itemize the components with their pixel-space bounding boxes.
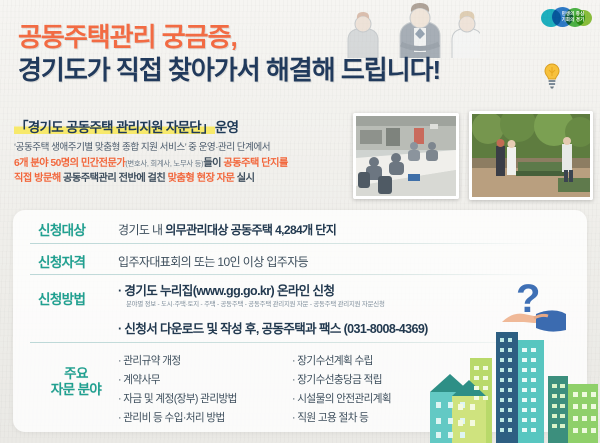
fields-right-column: · 장기수선계획 수립 · 장기수선충당금 적립 · 시설물의 안전관리계획 ·…: [292, 352, 391, 428]
fields-left-column: · 관리규약 개정 · 계약사무 · 자금 및 계정(장부) 관리방법 · 관리…: [118, 352, 237, 428]
field-item: · 직원 고용 절차 등: [292, 409, 391, 428]
field-item: · 계약사무: [118, 371, 237, 390]
subtitle-highlight: 「경기도 공동주택 관리지원 자문단」: [14, 120, 215, 135]
divider-2: [30, 274, 550, 275]
photo-advisory-meeting: [353, 113, 459, 199]
label-main-fields-line2: 자문 분야: [40, 382, 112, 398]
field-item: · 장기수선충당금 적립: [292, 371, 391, 390]
method-fax-text: · 신청서 다운로드 및 작성 후, 공동주택과 팩스 (031-8008-43…: [118, 318, 428, 337]
intro-line-2-accent: 6개 분야 50명의 민간전문가: [14, 158, 125, 169]
method-online-text: · 경기도 누리집(www.gg.go.kr) 온라인 신청: [118, 280, 334, 299]
field-item: · 장기수선계획 수립: [292, 352, 391, 371]
field-item: · 자금 및 계정(장부) 관리방법: [118, 390, 237, 409]
subtitle: 「경기도 공동주택 관리지원 자문단」운영: [14, 116, 238, 136]
intro-line-2-mid: 들이: [203, 158, 221, 169]
label-main-fields-line1: 주요: [40, 366, 112, 382]
value-eligibility: 입주자대표회의 또는 10인 이상 입주자등: [118, 253, 308, 270]
divider-1: [30, 243, 550, 244]
field-item: · 관리규약 개정: [118, 352, 237, 371]
intro-paragraph: ‘공동주택 생애주기별 맞춤형 종합 지원 서비스’ 중 운영·관리 단계에서 …: [14, 140, 354, 187]
headline: 공동주택관리 궁금증, 경기도가 직접 찾아가서 해결해 드립니다!: [18, 22, 578, 86]
intro-line-1: ‘공동주택 생애주기별 맞춤형 종합 지원 서비스’ 중 운영·관리 단계에서: [14, 140, 354, 156]
intro-line-3-accent: 직접 방문해: [14, 173, 61, 184]
intro-line-3-accent-2: 맞춤형 현장 자문: [168, 173, 235, 184]
label-application-method: 신청방법: [38, 288, 85, 308]
poster-canvas: 민생의 중심 기회의 경기 공동주택관리 궁금증, 경기도가 직접 찾아가서 해…: [0, 0, 600, 443]
headline-line-1: 공동주택관리 궁금증,: [18, 22, 578, 52]
label-main-fields: 주요 자문 분야: [40, 366, 112, 398]
value-application-target: 경기도 내 의무관리대상 공동주택 4,284개 단지: [118, 221, 336, 238]
intro-line-3-tail: 실시: [237, 173, 255, 184]
photo-site-visit: [469, 111, 593, 200]
value-target-bold: 의무관리대상 공동주택 4,284개 단지: [165, 223, 336, 237]
intro-line-2-accent-2: 공동주택 단지를: [223, 158, 287, 169]
field-item: · 시설물의 안전관리계획: [292, 390, 391, 409]
logo-line2: 기회의 경기: [555, 17, 591, 23]
method-navigation-path: 분야별 정보 - 도시·주택·토지 - 주택 - 공동주택 - 공동주택 관리지…: [126, 299, 385, 308]
intro-line-2-note: (변호사, 회계사, 노무사 등): [125, 159, 203, 168]
label-application-target: 신청대상: [38, 219, 85, 239]
label-eligibility: 신청자격: [38, 251, 85, 271]
value-target-plain: 경기도 내: [118, 223, 165, 237]
lightbulb-icon: [542, 62, 562, 90]
intro-line-3-mid: 공동주택관리 전반에 걸친: [63, 173, 165, 184]
subtitle-tail: 운영: [215, 120, 238, 135]
apartment-buildings-icon: [430, 330, 600, 443]
field-item: · 관리비 등 수입·처리 방법: [118, 409, 237, 428]
headline-line-2: 경기도가 직접 찾아가서 해결해 드립니다!: [18, 54, 578, 86]
